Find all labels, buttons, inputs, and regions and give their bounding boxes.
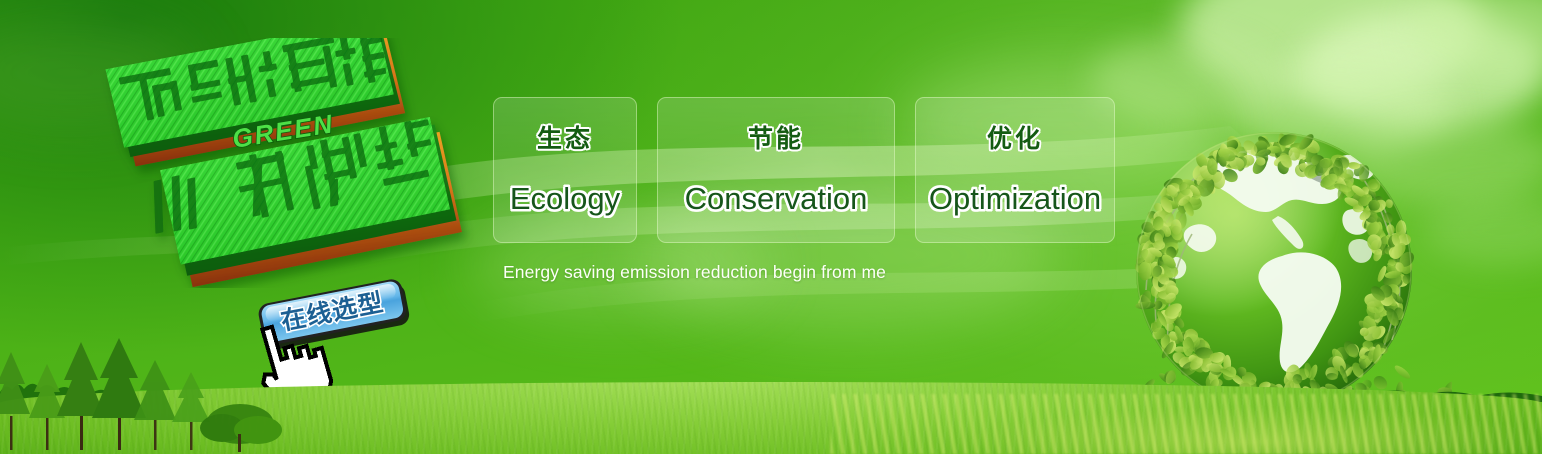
foreground-conifer-trees xyxy=(0,338,344,454)
card-title-en: Ecology xyxy=(510,183,620,214)
card-title-cn: 生态 xyxy=(537,127,593,152)
card-title-en: Optimization xyxy=(929,183,1101,214)
card-title-en: Conservation xyxy=(685,183,868,214)
grass-highlight xyxy=(830,394,1542,454)
cloud-shape xyxy=(1412,0,1542,76)
eco-hero-banner: GREEN xyxy=(0,0,1542,454)
feature-card-ecology[interactable]: 生态 Ecology xyxy=(493,97,637,243)
feature-card-optimization[interactable]: 优化 Optimization xyxy=(915,97,1115,243)
card-title-cn: 节能 xyxy=(748,127,804,152)
banner-subtitle: Energy saving emission reduction begin f… xyxy=(503,262,886,283)
feature-card-list: 生态 Ecology 节能 Conservation 优化 Optimizati… xyxy=(493,97,1115,243)
cloud-shape xyxy=(1180,0,1480,102)
card-title-cn: 优化 xyxy=(987,127,1043,152)
feature-card-conservation[interactable]: 节能 Conservation xyxy=(657,97,895,243)
headline-3d-artwork: GREEN xyxy=(96,38,496,288)
